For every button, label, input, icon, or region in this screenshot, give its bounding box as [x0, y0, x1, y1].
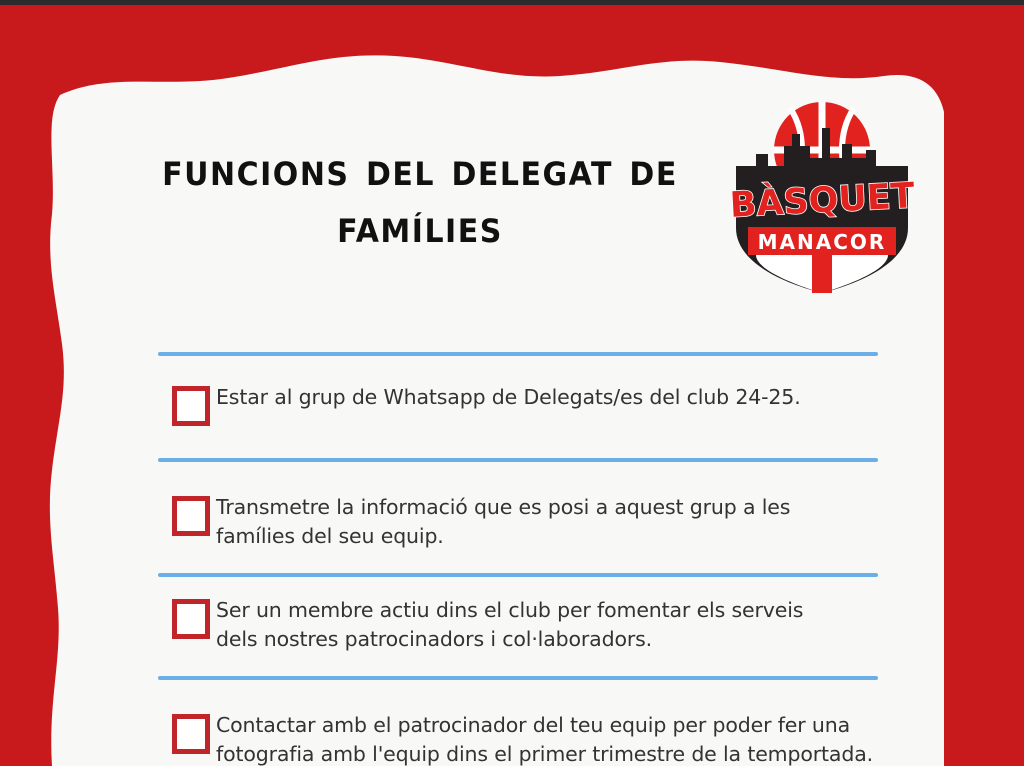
list-item-label: Contactar amb el patrocinador del teu eq… [216, 710, 873, 766]
list-item-label: Ser un membre actiu dins el club per fom… [216, 595, 803, 654]
list-item-line: Ser un membre actiu dins el club per fom… [216, 596, 803, 625]
list-item-line: Contactar amb el patrocinador del teu eq… [216, 711, 873, 740]
checklist: Estar al grup de Whatsapp de Delegats/es… [0, 352, 1024, 766]
list-item-line: Transmetre la informació que es posi a a… [216, 493, 790, 522]
checkbox-item-contact-sponsor[interactable] [172, 714, 210, 754]
page-title-line-2: FAMÍLIES [120, 197, 720, 257]
list-item-line: dels nostres patrocinadors i col·laborad… [216, 625, 803, 654]
list-item[interactable]: Transmetre la informació que es posi a a… [172, 492, 912, 551]
card-content: FUNCIONS DEL DELEGAT DE FAMÍLIES [0, 0, 1024, 766]
basquet-manacor-logo: BÀSQUET MANACOR [722, 88, 922, 293]
poster-page: FUNCIONS DEL DELEGAT DE FAMÍLIES [0, 0, 1024, 766]
list-item-line: famílies del seu equip. [216, 522, 790, 551]
logo-secondary-text: MANACOR [758, 230, 887, 254]
list-item-line: fotografia amb l'equip dins el primer tr… [216, 740, 873, 766]
logo-secondary-banner: MANACOR [748, 227, 896, 255]
logo-primary-text-bar: BÀSQUET [729, 170, 916, 226]
checkbox-item-transmit-info[interactable] [172, 496, 210, 536]
list-item-label: Estar al grup de Whatsapp de Delegats/es… [216, 382, 801, 412]
list-item-line: Estar al grup de Whatsapp de Delegats/es… [216, 383, 801, 412]
page-title-line-1: FUNCIONS DEL DELEGAT DE [120, 140, 720, 200]
list-item[interactable]: Ser un membre actiu dins el club per fom… [172, 595, 912, 654]
page-title: FUNCIONS DEL DELEGAT DE FAMÍLIES [120, 142, 720, 256]
list-item[interactable]: Estar al grup de Whatsapp de Delegats/es… [172, 382, 912, 426]
checkbox-item-whatsapp-group[interactable] [172, 386, 210, 426]
list-item[interactable]: Contactar amb el patrocinador del teu eq… [172, 710, 912, 766]
top-edge-strip [0, 0, 1024, 5]
shield-cross [756, 255, 888, 293]
checkbox-item-active-member[interactable] [172, 599, 210, 639]
list-item-label: Transmetre la informació que es posi a a… [216, 492, 790, 551]
